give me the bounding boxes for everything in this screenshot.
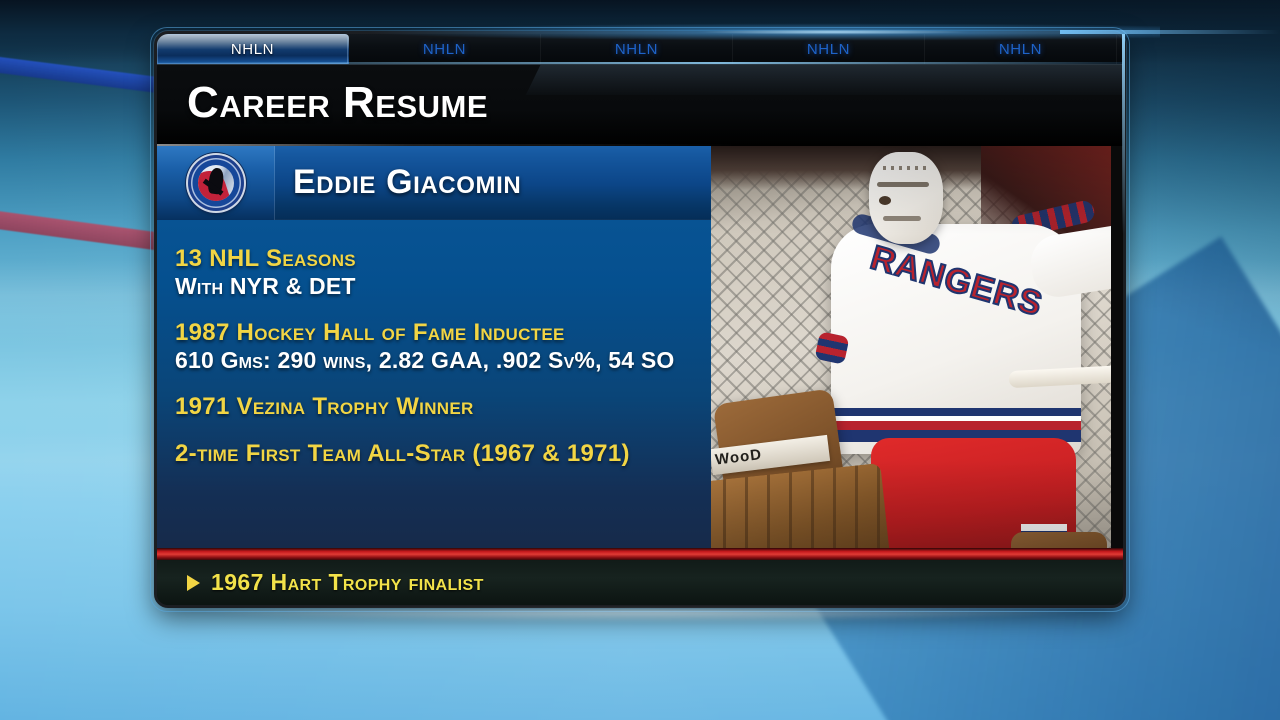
tab-nhln-6[interactable]: NHLN [1117, 34, 1123, 64]
stat-highlight: 1971 Vezina Trophy Winner [175, 394, 697, 421]
tab-label: NHLN [807, 41, 850, 58]
network-tab-strip[interactable]: NHLN NHLN NHLN NHLN NHLN NHLN [157, 34, 1123, 65]
tab-label: NHLN [615, 41, 658, 58]
ticker-text: 1967 Hart Trophy finalist [211, 569, 484, 596]
stat-detail: 610 Gms: 290 wins, 2.82 GAA, .902 Sv%, 5… [175, 347, 697, 374]
player-photo: RANGERS WooD [711, 146, 1111, 548]
stat-item-hall-of-fame: 1987 Hockey Hall of Fame Inductee 610 Gm… [175, 320, 697, 374]
page-title: Career Resume [187, 71, 488, 135]
player-name: Eddie Giacomin [275, 163, 521, 202]
stats-list: 13 NHL Seasons With NYR & DET 1987 Hocke… [157, 220, 711, 548]
player-silhouette-icon [207, 167, 224, 195]
tab-nhln-2[interactable]: NHLN [349, 34, 541, 64]
logo-inner [198, 165, 234, 201]
logo-container [157, 146, 275, 220]
tab-nhln-4[interactable]: NHLN [733, 34, 925, 64]
red-divider-bar [157, 548, 1123, 560]
hockey-hall-of-fame-logo-icon [188, 155, 244, 211]
stat-item-all-star: 2-time First Team All-Star (1967 & 1971) [175, 441, 697, 468]
tab-label: NHLN [423, 41, 466, 58]
stat-item-vezina: 1971 Vezina Trophy Winner [175, 394, 697, 421]
stat-detail: With NYR & DET [175, 273, 697, 300]
tab-nhln-1[interactable]: NHLN [157, 34, 349, 64]
photo-vignette [711, 146, 1111, 548]
stat-highlight: 2-time First Team All-Star (1967 & 1971) [175, 441, 697, 468]
stat-highlight: 1987 Hockey Hall of Fame Inductee [175, 320, 697, 347]
tab-label: NHLN [999, 41, 1042, 58]
stat-item-seasons: 13 NHL Seasons With NYR & DET [175, 246, 697, 300]
tab-label: NHLN [231, 41, 274, 58]
play-triangle-icon [187, 575, 200, 591]
tab-nhln-3[interactable]: NHLN [541, 34, 733, 64]
headline-sheen [526, 65, 1123, 95]
stat-highlight: 13 NHL Seasons [175, 246, 697, 273]
ticker-bar: 1967 Hart Trophy finalist [157, 560, 1123, 605]
headline-bar: Career Resume [157, 65, 1123, 146]
career-resume-panel: NHLN NHLN NHLN NHLN NHLN NHLN Career Res… [154, 31, 1126, 608]
player-name-bar: Eddie Giacomin [157, 146, 711, 220]
tab-nhln-5[interactable]: NHLN [925, 34, 1117, 64]
